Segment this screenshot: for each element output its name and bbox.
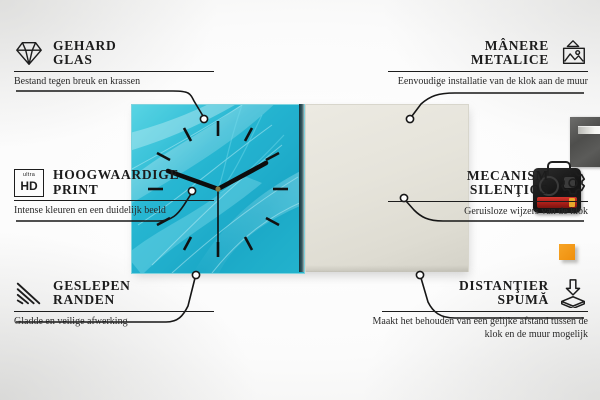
glass-edge [299, 104, 304, 272]
feature-title: HOOGWAARDIGE PRINT [53, 168, 179, 197]
feature-description: Bestand tegen breuk en krassen [14, 76, 224, 89]
feature-header: ultra HD HOOGWAARDIGE PRINT [14, 168, 224, 197]
clock-minute-hand [218, 163, 266, 189]
spacer-arrow-icon [558, 278, 588, 308]
beveled-edges-icon [14, 278, 44, 308]
divider [388, 201, 588, 202]
feature-gehard-glas: GEHARD GLAS Bestand tegen breuk en krass… [14, 38, 224, 89]
gear-icon [558, 168, 588, 198]
divider [388, 71, 588, 72]
feature-title: GEHARD GLAS [53, 39, 116, 68]
feature-header: MECANISM SILENŢIOS [378, 168, 588, 198]
feature-header: GEHARD GLAS [14, 38, 224, 68]
feature-title: MÂNERE METALICE [471, 39, 549, 68]
feature-header: DISTANŢIER SPUMĂ [372, 278, 588, 308]
feature-header: GESLEPEN RANDEN [14, 278, 224, 308]
divider [14, 71, 214, 72]
feature-manere-metalice: MÂNERE METALICE Eenvoudige installatie v… [378, 38, 588, 89]
feature-description: Maakt het behouden van een gelijke afsta… [372, 316, 588, 341]
metal-hanger [570, 117, 600, 167]
feature-description: Geruisloze wijzers van de klok [378, 206, 588, 219]
feature-title: GESLEPEN RANDEN [53, 279, 131, 308]
divider [14, 311, 214, 312]
feature-title: MECANISM SILENŢIOS [467, 169, 549, 198]
diamond-icon [14, 38, 44, 68]
feature-description: Eenvoudige installatie van de klok aan d… [378, 76, 588, 89]
hanger-slot [578, 126, 600, 134]
feature-geslepen-randen: GESLEPEN RANDEN Gladde en veilige afwerk… [14, 278, 224, 329]
feature-mecanism-silentios: MECANISM SILENŢIOS Geruisloze wijzers va… [378, 168, 588, 219]
divider [14, 200, 214, 201]
feature-title: DISTANŢIER SPUMĂ [459, 279, 549, 308]
divider [382, 311, 588, 312]
feature-header: MÂNERE METALICE [378, 38, 588, 68]
foam-spacer [559, 244, 575, 260]
ultra-hd-icon: ultra HD [14, 169, 44, 197]
picture-hanger-icon [558, 38, 588, 68]
feature-hoogwaardige-print: ultra HD HOOGWAARDIGE PRINT Intense kleu… [14, 168, 224, 218]
feature-distantier-spuma: DISTANŢIER SPUMĂ Maakt het behouden van … [372, 278, 588, 341]
infographic-canvas: GEHARD GLAS Bestand tegen breuk en krass… [0, 0, 600, 400]
feature-description: Gladde en veilige afwerking [14, 316, 224, 329]
feature-description: Intense kleuren en een duidelijk beeld [14, 205, 224, 218]
